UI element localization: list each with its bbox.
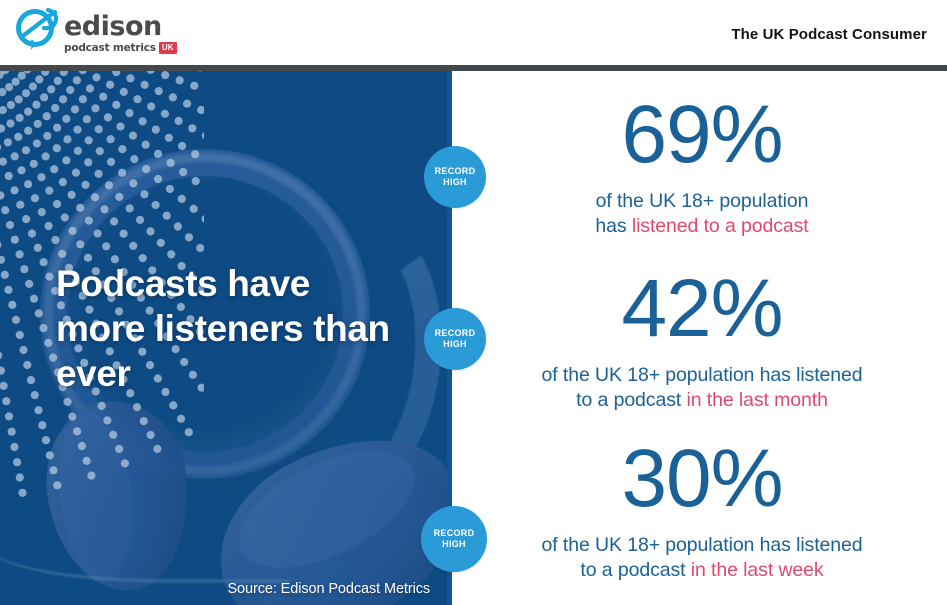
stat-description-1-line1: of the UK 18+ population xyxy=(596,190,809,212)
stat-block-1: 69% of the UK 18+ population has listene… xyxy=(457,96,947,239)
logo-tagline: podcast metrics xyxy=(64,43,156,54)
hero-panel: Podcasts have more listeners than ever S… xyxy=(0,71,452,605)
stat-value-1: 69% xyxy=(457,96,947,175)
hero-source-note: Source: Edison Podcast Metrics xyxy=(227,581,430,597)
record-high-badge-1-line2: HIGH xyxy=(443,177,467,188)
logo-wordmark: edison xyxy=(64,13,177,40)
page-header: edison podcast metrics UK The UK Podcast… xyxy=(0,0,947,65)
stat-description-3: of the UK 18+ population has listened to… xyxy=(457,533,947,583)
record-high-badge-2-line1: RECORD xyxy=(435,328,476,339)
stat-block-2: 42% of the UK 18+ population has listene… xyxy=(457,270,947,413)
stat-description-1-line2-highlight: listened to a podcast xyxy=(632,215,809,237)
stat-description-2-line1: of the UK 18+ population has listened xyxy=(542,364,863,386)
stat-description-3-line2-highlight: in the last week xyxy=(691,559,824,581)
edison-e-circle-logo-icon xyxy=(14,8,62,52)
stat-block-3: 30% of the UK 18+ population has listene… xyxy=(457,440,947,583)
hero-headline: Podcasts have more listeners than ever xyxy=(56,261,396,396)
record-high-badge-1: RECORD HIGH xyxy=(424,146,486,208)
stat-value-2: 42% xyxy=(457,270,947,349)
record-high-badge-3: RECORD HIGH xyxy=(421,506,487,572)
page-title: The UK Podcast Consumer xyxy=(731,26,927,43)
record-high-badge-2: RECORD HIGH xyxy=(424,308,486,370)
record-high-badge-1-line1: RECORD xyxy=(435,166,476,177)
edison-logo[interactable]: edison podcast metrics UK xyxy=(14,8,177,54)
record-high-badge-3-line1: RECORD xyxy=(434,528,475,539)
record-high-badge-2-line2: HIGH xyxy=(443,339,467,350)
stat-description-1-line2-plain: has xyxy=(595,215,631,237)
headphones-cable xyxy=(0,523,290,583)
stat-value-3: 30% xyxy=(457,440,947,519)
stats-panel: 69% of the UK 18+ population has listene… xyxy=(457,71,947,605)
stat-description-3-line2-plain: to a podcast xyxy=(580,559,690,581)
stat-description-3-line1: of the UK 18+ population has listened xyxy=(542,534,863,556)
stat-description-2-line2-highlight: in the last month xyxy=(686,389,827,411)
stat-description-2: of the UK 18+ population has listened to… xyxy=(457,363,947,413)
logo-region-badge: UK xyxy=(159,42,177,54)
stat-description-2-line2-plain: to a podcast xyxy=(576,389,686,411)
record-high-badge-3-line2: HIGH xyxy=(442,539,466,550)
infographic-page: edison podcast metrics UK The UK Podcast… xyxy=(0,0,947,605)
stat-description-1: of the UK 18+ population has listened to… xyxy=(457,189,947,239)
